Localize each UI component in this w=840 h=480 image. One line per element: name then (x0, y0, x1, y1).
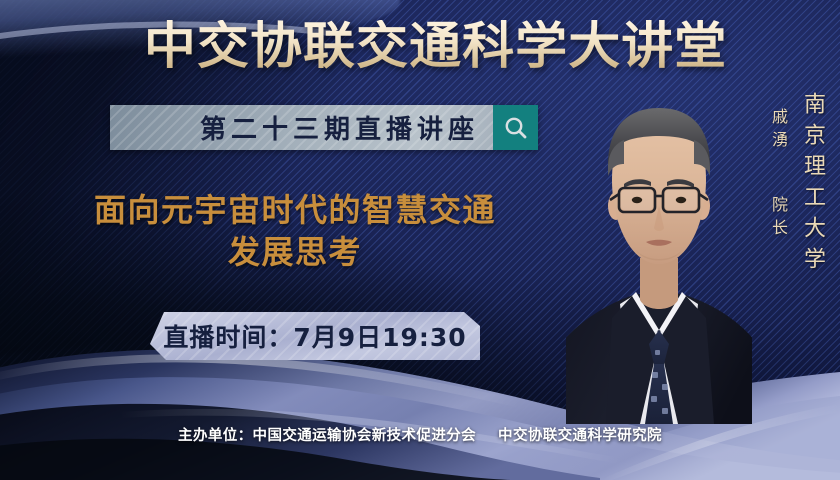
episode-bar-body: 第二十三期直播讲座 (110, 105, 493, 150)
promo-poster: 中交协联交通科学大讲堂 第二十三期直播讲座 面向元宇宙时代的智慧交通 发展思考 … (0, 0, 840, 480)
broadcast-time-badge: 直播时间：7月9日19:30 (150, 312, 480, 360)
speaker-role: 院长 (766, 196, 790, 242)
footer-organizers: 主办单位：中国交通运输协会新技术促进分会中交协联交通科学研究院 (0, 424, 840, 445)
page-title: 中交协联交通科学大讲堂 (0, 20, 840, 72)
footer-organizer-1: 中国交通运输协会新技术促进分会 (253, 428, 477, 444)
speaker-affiliation: 南京理工大学 (796, 92, 828, 278)
speaker-portrait-image (566, 72, 752, 424)
episode-label: 第二十三期直播讲座 (200, 109, 479, 146)
lecture-title-line2: 发展思考 (40, 232, 550, 274)
lecture-title-line1: 面向元宇宙时代的智慧交通 (94, 191, 496, 229)
lecture-title: 面向元宇宙时代的智慧交通 发展思考 (40, 190, 550, 273)
episode-bar: 第二十三期直播讲座 (110, 105, 538, 150)
search-icon[interactable] (493, 105, 538, 150)
broadcast-time-label: 直播时间：7月9日19:30 (163, 318, 466, 354)
speaker-portrait (566, 72, 752, 424)
footer-organizer-2: 中交协联交通科学研究院 (498, 428, 662, 444)
speaker-name: 戚湧 (766, 108, 790, 154)
footer-prefix: 主办单位： (178, 428, 253, 444)
